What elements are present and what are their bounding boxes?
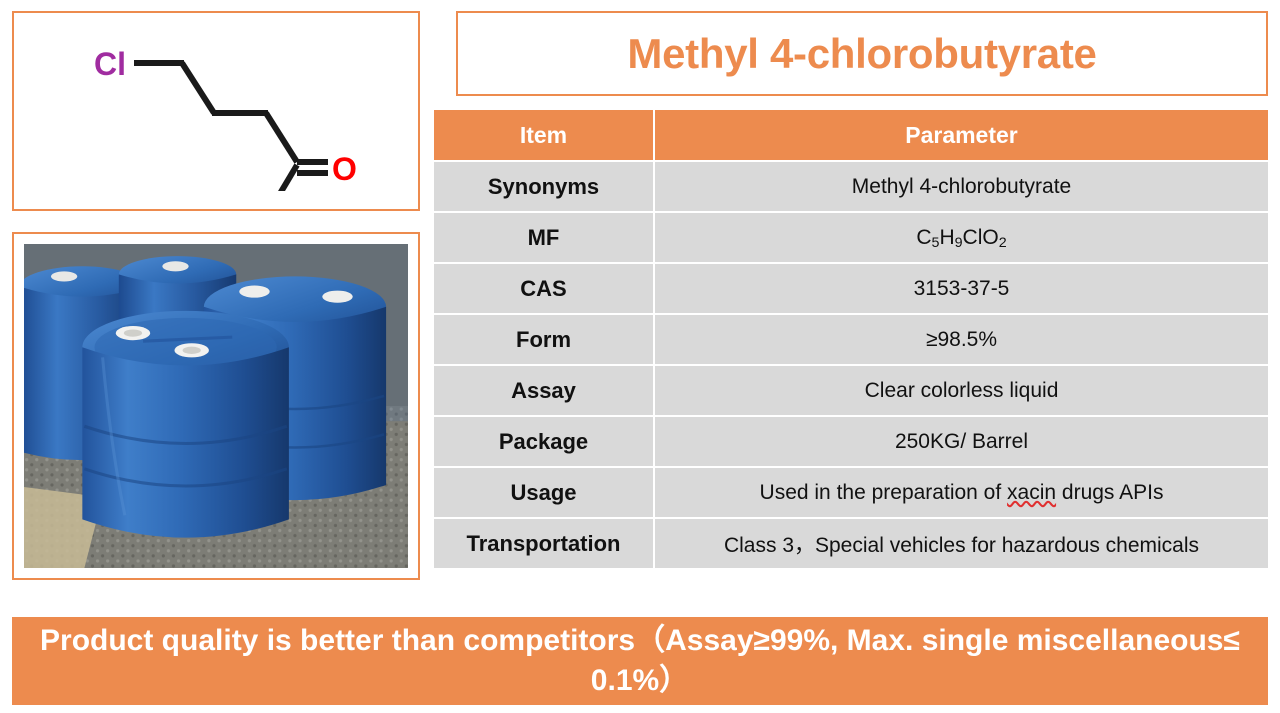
chlorine-label: Cl (90, 45, 134, 82)
table-row: UsageUsed in the preparation of xacin dr… (434, 468, 1268, 517)
table-row: AssayClear colorless liquid (434, 366, 1268, 415)
table-cell-parameter: Methyl 4-chlorobutyrate (655, 162, 1268, 211)
structure-svg: Cl O O H 3 C (66, 31, 366, 191)
carbonyl-oxygen-label: O (328, 149, 364, 187)
bond-c2-c1 (266, 113, 297, 162)
bond-c4-c3 (182, 63, 214, 113)
carbonyl-oxygen-text: O (332, 151, 357, 187)
table-cell-parameter: C5H9ClO2 (655, 213, 1268, 262)
column-header-parameter: Parameter (655, 110, 1268, 160)
chlorine-label-text: Cl (94, 46, 126, 82)
formula-segment: H (939, 226, 954, 249)
table-header-row: Item Parameter (434, 110, 1268, 160)
table-row: MFC5H9ClO2 (434, 213, 1268, 262)
formula-subscript: 2 (999, 235, 1007, 251)
formula-subscript: 9 (955, 235, 963, 251)
bond-c1-o-ester (272, 165, 297, 191)
product-photo-panel (12, 232, 420, 580)
misspelled-word: xacin (1007, 481, 1056, 504)
quality-banner-text: Product quality is better than competito… (36, 621, 1244, 700)
formula-segment: ClO (963, 226, 999, 249)
table-cell-parameter: Class 3，Special vehicles for hazardous c… (655, 519, 1268, 568)
bond-lines (128, 63, 332, 191)
column-header-item: Item (434, 110, 653, 160)
text-segment: Used in the preparation of (760, 481, 1008, 504)
table-head: Item Parameter (434, 110, 1268, 160)
table-cell-parameter: 250KG/ Barrel (655, 417, 1268, 466)
table-cell-item: Form (434, 315, 653, 364)
table-body: SynonymsMethyl 4-chlorobutyrateMFC5H9ClO… (434, 162, 1268, 568)
table-cell-item: Usage (434, 468, 653, 517)
barrel-front (82, 311, 289, 538)
page-title: Methyl 4-chlorobutyrate (627, 30, 1096, 78)
table-cell-item: Assay (434, 366, 653, 415)
product-title-box: Methyl 4-chlorobutyrate (456, 11, 1268, 96)
table-cell-parameter: 3153-37-5 (655, 264, 1268, 313)
table-row: SynonymsMethyl 4-chlorobutyrate (434, 162, 1268, 211)
table-cell-parameter: Used in the preparation of xacin drugs A… (655, 468, 1268, 517)
table-row: Package250KG/ Barrel (434, 417, 1268, 466)
table-cell-item: MF (434, 213, 653, 262)
chemical-structure-diagram: Cl O O H 3 C (14, 13, 418, 209)
table-row: CAS3153-37-5 (434, 264, 1268, 313)
table-cell-item: Package (434, 417, 653, 466)
table-cell-item: Synonyms (434, 162, 653, 211)
table-cell-item: CAS (434, 264, 653, 313)
table-cell-parameter: ≥98.5% (655, 315, 1268, 364)
structure-panel: Cl O O H 3 C (12, 11, 420, 211)
table-row: TransportationClass 3，Special vehicles f… (434, 519, 1268, 568)
formula-segment: C (916, 226, 931, 249)
product-photo (24, 244, 408, 568)
text-segment: drugs APIs (1056, 481, 1163, 504)
table-row: Form≥98.5% (434, 315, 1268, 364)
quality-banner: Product quality is better than competito… (12, 617, 1268, 705)
table-cell-parameter: Clear colorless liquid (655, 366, 1268, 415)
product-photo-svg (24, 244, 408, 568)
specification-table: Item Parameter SynonymsMethyl 4-chlorobu… (432, 108, 1270, 570)
table-cell-item: Transportation (434, 519, 653, 568)
formula-subscript: 5 (932, 235, 940, 251)
